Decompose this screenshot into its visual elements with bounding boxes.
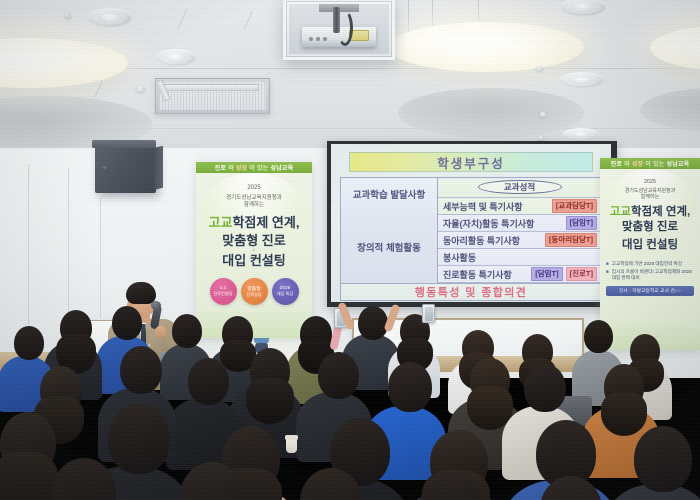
banner-headline-3: 대입 컨설팅	[600, 239, 700, 252]
banner-year: 2025	[196, 185, 312, 193]
badge-line-2: 진학상담	[246, 292, 261, 298]
strip-word: 진로	[611, 159, 622, 168]
cell-text: 봉사활동	[443, 251, 476, 264]
bullet-square-icon: ■	[606, 261, 609, 267]
sprinkler-head	[136, 86, 145, 92]
row-category-label: 교과학습 발달사항	[341, 178, 438, 215]
owner-tag: [교과담당T]	[552, 199, 597, 212]
ceiling-downlight	[563, 128, 599, 141]
banner-headline-accent: 고교	[610, 206, 631, 218]
strip-word: 성남교육	[270, 163, 293, 172]
banner-subtitle-2: 함께하는	[196, 202, 312, 209]
table-cell: 동아리활동 특기사항 [동아리담당T]	[438, 232, 601, 249]
sprinkler-head	[540, 112, 546, 117]
strip-word: 성남교육	[666, 159, 689, 168]
owner-tag: [동아리담당T]	[545, 233, 597, 246]
banner-headline-3: 대입 컨설팅	[196, 253, 312, 268]
table-row: 창의적 체험활동 자율(자치)활동 특기사항 [담임T] 동아리활동 특기사항 …	[341, 215, 601, 283]
bullet-square-icon: ■	[606, 269, 609, 280]
slide-footer-bar: 행동특성 및 종합의견	[340, 283, 602, 301]
banner-year: 2025	[600, 179, 700, 186]
banner-subtitle-1: 경기도성남교육지원청과	[196, 195, 312, 202]
slide-title-text: 학생부구성	[437, 153, 505, 172]
table-cell: 진로활동 특기사항 [담임T] [진로T]	[438, 266, 601, 283]
banner-top-strip: 진로 와 성장 이 있는 성남교육	[196, 162, 312, 173]
banner-headline-1: 학점제 연계,	[631, 206, 690, 218]
row-category-label: 창의적 체험활동	[341, 215, 438, 283]
banner-headline-1: 학점제 연계,	[232, 215, 299, 230]
wall-speaker	[95, 145, 156, 193]
ceiling-downlight	[560, 0, 606, 16]
strip-word: 있는	[653, 159, 664, 168]
badge-line-2: 대입 특강	[277, 291, 294, 297]
projection-screen: 학생부구성 교과학습 발달사항 교과성적 세부능력 및 특기사항 [교과담당T]	[331, 144, 611, 302]
ceiling-downlight	[156, 49, 196, 66]
banner-bullet-item: ■ 입시의 흐름이 바뀐다! 고교학점제와 2028 대입 완벽 대비	[606, 269, 694, 280]
owner-tag: [진로T]	[566, 267, 597, 280]
slide-table: 교과학습 발달사항 교과성적 세부능력 및 특기사항 [교과담당T]	[340, 177, 602, 283]
table-row: 교과학습 발달사항 교과성적 세부능력 및 특기사항 [교과담당T]	[341, 178, 601, 215]
cell-text: 자율(자치)활동 특기사항	[443, 217, 534, 230]
owner-tag: [담임T]	[531, 267, 562, 280]
banner-bullet-item: ■ 고교학점제 기반 2028 대입전략 특강	[606, 261, 694, 267]
coffee-cup	[286, 438, 297, 453]
smartphone[interactable]	[422, 304, 435, 323]
strip-word: 성장	[632, 159, 643, 168]
subject-grade-pill: 교과성적	[478, 180, 562, 194]
slide-footer-text: 행동특성 및 종합의견	[415, 284, 528, 300]
table-cell: 봉사활동	[438, 249, 601, 266]
banner-top-strip: 진로 와 성장 이 있는 성남교육	[600, 158, 700, 169]
table-cell: 세부능력 및 특기사항 [교과담당T]	[438, 198, 601, 215]
owner-tag: [담임T]	[566, 216, 597, 229]
strip-word: 진로	[215, 163, 226, 172]
sprinkler-head	[64, 13, 71, 18]
badge-line-1: 맞춤형	[247, 285, 260, 292]
ceiling-air-vent	[155, 78, 270, 114]
strip-word: 와	[624, 159, 630, 168]
table-cell: 자율(자치)활동 특기사항 [담임T]	[438, 215, 601, 232]
sprinkler-head	[538, 136, 544, 140]
cell-text: 세부능력 및 특기사항	[443, 200, 523, 213]
ceiling-downlight	[88, 8, 132, 27]
ceiling-downlight	[560, 72, 604, 88]
ceiling-light-disc	[0, 38, 128, 88]
strip-word: 성장	[236, 163, 247, 172]
strip-word: 와	[228, 163, 234, 172]
strip-word: 있는	[257, 163, 268, 172]
badge-line-2: 진로컨설팅	[213, 291, 232, 297]
cell-text: 동아리활동 특기사항	[443, 234, 520, 247]
cell-text: 진로활동 특기사항	[443, 268, 512, 281]
strip-word: 이	[645, 159, 651, 168]
strip-word: 이	[249, 163, 255, 172]
ceiling-disc-shadow	[398, 88, 584, 138]
banner-subtitle-2: 함께하는	[600, 194, 700, 200]
slide-title-bar: 학생부구성	[349, 152, 593, 172]
banner-headline-accent: 고교	[209, 215, 233, 230]
ceiling-light-disc	[388, 22, 584, 72]
bullet-text: 고교학점제 기반 2028 대입전략 특강	[612, 261, 682, 267]
ceiling-light-disc	[650, 26, 700, 70]
audience	[0, 300, 700, 500]
bullet-text: 입시의 흐름이 바뀐다! 고교학점제와 2028 대입 완벽 대비	[612, 269, 694, 280]
ceiling	[0, 0, 700, 152]
ceiling-projector	[283, 0, 395, 60]
sprinkler-head	[536, 66, 543, 71]
slide-content: 학생부구성 교과학습 발달사항 교과성적 세부능력 및 특기사항 [교과담당T]	[331, 144, 611, 302]
ceiling-disc-shadow	[640, 88, 700, 132]
banner-speaker-line: 강사 : 하탈고등학교 교사 김○○	[606, 286, 694, 296]
lecture-hall-photo: 학생부구성 교과학습 발달사항 교과성적 세부능력 및 특기사항 [교과담당T]	[0, 0, 700, 500]
